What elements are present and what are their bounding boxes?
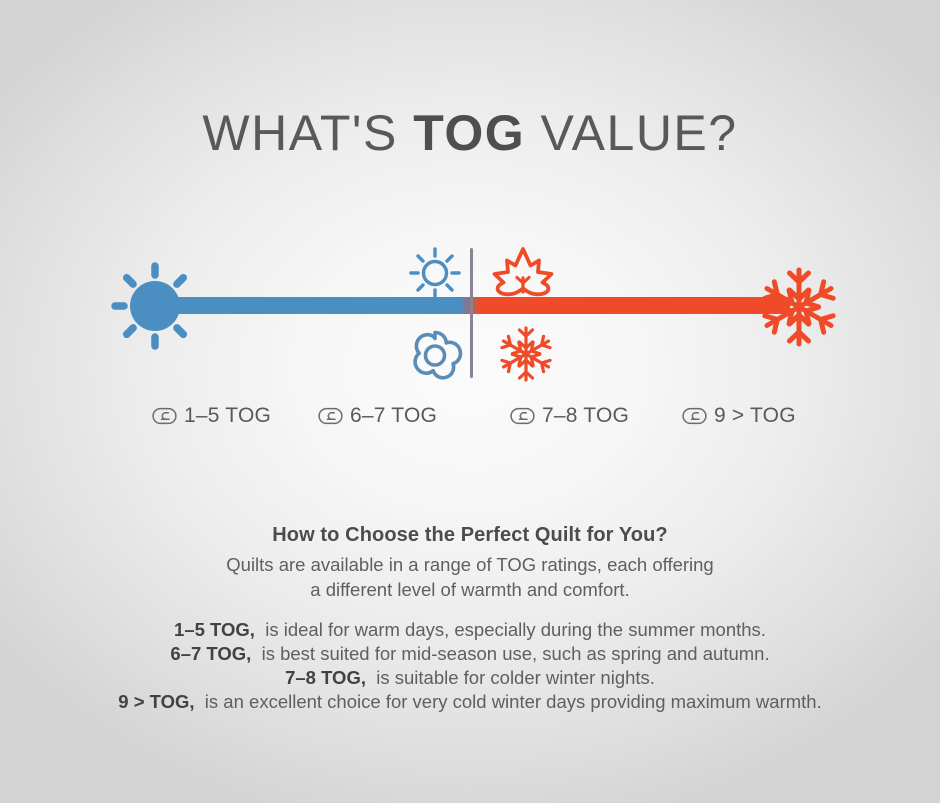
tog-label-text: 7–8 TOG: [542, 404, 629, 428]
title-part-2: VALUE?: [525, 105, 737, 161]
infographic-canvas: WHAT'S TOG VALUE?: [0, 0, 940, 803]
page-title: WHAT'S TOG VALUE?: [0, 104, 940, 162]
bullet-label: 7–8 TOG,: [285, 667, 366, 688]
bullet-label: 9 > TOG,: [118, 691, 194, 712]
description-block: How to Choose the Perfect Quilt for You?…: [0, 524, 940, 602]
title-part-1: WHAT'S: [202, 105, 413, 161]
sun-filled-icon: [105, 256, 205, 361]
bullet-label: 1–5 TOG,: [174, 619, 255, 640]
tog-description-list: 1–5 TOG, is ideal for warm days, especia…: [0, 618, 940, 714]
bullet-text: is an excellent choice for very cold win…: [195, 691, 822, 712]
bullet-label: 6–7 TOG,: [170, 643, 251, 664]
snowflake-large-icon: [755, 263, 843, 356]
tog-label-row: 1–5 TOG 6–7 TOG 7–8 TOG 9: [0, 404, 940, 444]
quilt-roll-icon: [682, 407, 707, 425]
tog-label-text: 1–5 TOG: [184, 404, 271, 428]
tog-label-text: 9 > TOG: [714, 404, 796, 428]
tog-scale: [0, 240, 940, 390]
quilt-roll-icon: [152, 407, 177, 425]
scale-divider: [470, 248, 473, 378]
tog-label-6-7: 6–7 TOG: [318, 404, 437, 428]
list-item: 7–8 TOG, is suitable for colder winter n…: [0, 666, 940, 690]
bullet-text: is suitable for colder winter nights.: [366, 667, 655, 688]
list-item: 6–7 TOG, is best suited for mid-season u…: [0, 642, 940, 666]
flower-icon: [406, 325, 464, 388]
list-item: 1–5 TOG, is ideal for warm days, especia…: [0, 618, 940, 642]
tog-label-1-5: 1–5 TOG: [152, 404, 271, 428]
tog-label-9-plus: 9 > TOG: [682, 404, 796, 428]
sun-outline-icon: [404, 244, 466, 307]
bullet-text: is best suited for mid-season use, such …: [251, 643, 769, 664]
quilt-roll-icon: [318, 407, 343, 425]
title-emphasis: TOG: [413, 105, 525, 161]
list-item: 9 > TOG, is an excellent choice for very…: [0, 690, 940, 714]
description-line-1: Quilts are available in a range of TOG r…: [0, 552, 940, 577]
description-heading: How to Choose the Perfect Quilt for You?: [0, 524, 940, 547]
tog-label-text: 6–7 TOG: [350, 404, 437, 428]
tog-label-7-8: 7–8 TOG: [510, 404, 629, 428]
maple-leaf-icon: [487, 242, 559, 309]
snowflake-small-icon: [497, 323, 555, 390]
bullet-text: is ideal for warm days, especially durin…: [255, 619, 766, 640]
description-line-2: a different level of warmth and comfort.: [0, 577, 940, 602]
quilt-roll-icon: [510, 407, 535, 425]
